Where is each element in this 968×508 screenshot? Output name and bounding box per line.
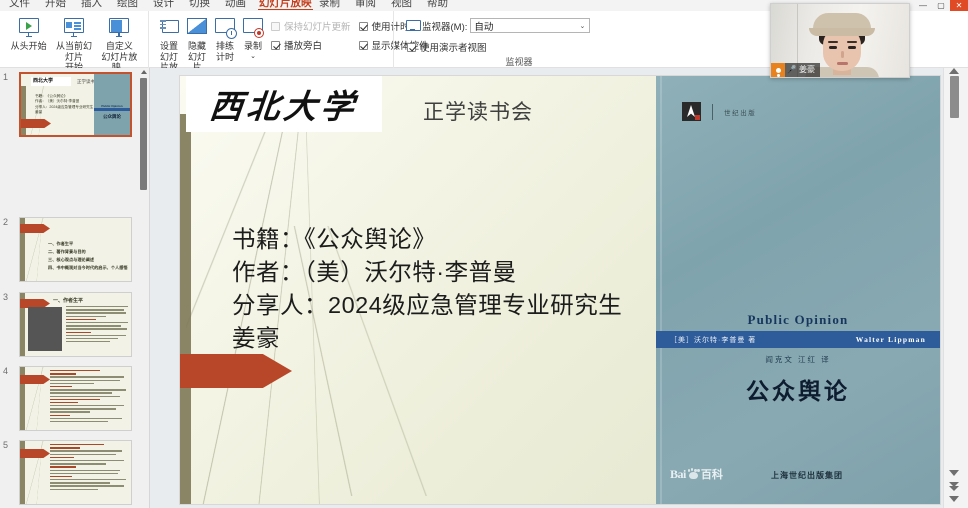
chevron-down-icon: ⌄: [580, 22, 586, 30]
powerpoint-window: 文件 开始 插入 绘图 设计 切换 动画 幻灯片放映 录制 审阅 视图 帮助 —…: [0, 0, 968, 508]
bear-paw-icon: [687, 468, 700, 480]
participant-name-badge: 🎤 姜豪: [771, 63, 820, 77]
thumbnail-item-5[interactable]: 5: [0, 438, 138, 508]
thumb-line: 分享人：2024级应急管理专业研究生: [35, 105, 93, 110]
record-button[interactable]: 录制 ⌄: [239, 14, 267, 60]
tab-file[interactable]: 文件: [6, 0, 33, 10]
book-english-title: Public Opinion: [656, 312, 940, 328]
setup-slideshow-icon: [156, 16, 182, 40]
book-author-chinese: ［美］沃尔特·李普曼 著: [670, 335, 756, 345]
participant-name: 姜豪: [798, 63, 820, 77]
setup-checkbox-column-1: 保持幻灯片更新 播放旁白: [267, 14, 355, 52]
scrollbar-thumb[interactable]: [140, 78, 147, 190]
tab-review[interactable]: 审阅: [352, 0, 379, 10]
checkbox-box: [271, 22, 280, 31]
next-slide-icon[interactable]: [949, 482, 959, 490]
close-button[interactable]: ✕: [950, 0, 968, 11]
window-controls: — ▢ ✕: [914, 0, 968, 11]
checkbox-box: [359, 41, 368, 50]
rehearse-timings-icon: [212, 16, 238, 40]
minimize-button[interactable]: —: [914, 0, 932, 11]
thumb-line: 姜豪: [35, 110, 93, 115]
baidu-baike-watermark: Bai 百科: [670, 466, 723, 482]
tab-insert[interactable]: 插入: [78, 0, 105, 10]
university-logo: 西北大学: [186, 76, 382, 132]
checkbox-box: [359, 22, 368, 31]
thumbnail-scrollbar[interactable]: [140, 70, 147, 506]
use-presenter-view-checkbox[interactable]: 使用演示者视图: [407, 40, 487, 54]
slide-editing-area[interactable]: 西北大学 正学读书会 书籍：《公众舆论》 作者：（美）沃尔特·李普曼 分享人：2…: [150, 68, 943, 508]
from-current-slide-icon: [61, 16, 87, 40]
publisher-logo-icon: [682, 102, 701, 121]
scroll-up-icon[interactable]: [949, 68, 959, 74]
ribbon-group-setup: 设置 幻灯片放映 隐藏 幻灯片 排练计时 录制 ⌄: [148, 11, 393, 68]
book-translators: 阎克文 江红 译: [656, 354, 940, 365]
thumbnail-number: 1: [3, 72, 8, 82]
from-beginning-icon: [16, 16, 42, 40]
monitor-selector-row: 监视器(M): 自动 ⌄: [406, 18, 590, 33]
thumb-heading: 一、作者生平: [53, 297, 83, 304]
divider: [712, 104, 713, 120]
thumbnail-number: 3: [3, 292, 8, 302]
scroll-bottom-icon[interactable]: [949, 496, 959, 502]
tab-view[interactable]: 视图: [388, 0, 415, 10]
thumbnail-item-4[interactable]: 4: [0, 364, 138, 436]
rehearse-timings-button[interactable]: 排练计时: [211, 14, 239, 62]
chevron-down-icon[interactable]: ⌄: [250, 52, 256, 60]
book-chinese-title: 公众舆论: [656, 372, 940, 406]
thumbnail-item-2[interactable]: 2 一、作者生平 二、著作背景与目的 三、核心观点与理论阐述 四、书中概观对当今…: [0, 215, 138, 287]
monitor-dropdown[interactable]: 自动 ⌄: [470, 18, 590, 33]
scrollbar-thumb[interactable]: [950, 76, 959, 118]
tab-draw[interactable]: 绘图: [114, 0, 141, 10]
tab-record[interactable]: 录制: [316, 0, 343, 10]
scroll-down-icon[interactable]: [949, 470, 959, 476]
book-cover-image[interactable]: 世纪出版 Public Opinion ［美］沃尔特·李普曼 著 Walter …: [656, 76, 940, 504]
maximize-button[interactable]: ▢: [932, 0, 950, 11]
tab-help[interactable]: 帮助: [424, 0, 451, 10]
thumbnail-number: 5: [3, 440, 8, 450]
slide-line-presenter: 分享人：2024级应急管理专业研究生: [232, 289, 692, 322]
person-icon: [771, 63, 785, 77]
book-author-band: ［美］沃尔特·李普曼 著 Walter Lippman: [656, 331, 940, 348]
thumb-logo-text: 西北大学: [31, 77, 71, 86]
custom-slideshow-button[interactable]: 自定义 幻灯片放映⌄: [97, 14, 142, 75]
slide-line-presenter-name: 姜豪: [232, 322, 692, 355]
thumb-line: 三、核心观点与理论阐述: [48, 256, 128, 264]
watermark-prefix: Bai: [670, 467, 686, 482]
monitor-dropdown-value: 自动: [474, 19, 493, 33]
thumbnail-image[interactable]: 一、作者生平: [19, 292, 132, 357]
watermark-suffix: 百科: [701, 466, 723, 482]
tab-animations[interactable]: 动画: [222, 0, 249, 10]
thumbnail-image[interactable]: [19, 366, 132, 431]
university-logo-text: 西北大学: [207, 80, 360, 128]
current-slide[interactable]: 西北大学 正学读书会 书籍：《公众舆论》 作者：（美）沃尔特·李普曼 分享人：2…: [180, 76, 940, 504]
ribbon-group-monitors: 监视器(M): 自动 ⌄ 使用演示者视图 监视器: [393, 11, 643, 68]
from-beginning-button[interactable]: 从头开始: [6, 14, 51, 52]
ribbon-group-monitors-label: 监视器: [394, 56, 644, 68]
checkbox-box: [407, 43, 416, 52]
reading-club-title: 正学读书会: [423, 96, 533, 126]
thumbnail-image[interactable]: 一、作者生平 二、著作背景与目的 三、核心观点与理论阐述 四、书中概观对当今时代…: [19, 217, 132, 282]
book-press-name: 上海世纪出版集团: [771, 470, 843, 481]
slide-thumbnail-pane[interactable]: 1 西北大学 正学读书会 Public Opinion 公众舆论 书籍：《公众舆…: [0, 68, 150, 508]
thumbnail-image[interactable]: 西北大学 正学读书会 Public Opinion 公众舆论 书籍：《公众舆论》…: [19, 72, 132, 137]
tab-transitions[interactable]: 切换: [186, 0, 213, 10]
monitor-label: 监视器(M):: [422, 19, 467, 33]
thumbnail-number: 2: [3, 217, 8, 227]
scroll-up-icon[interactable]: [141, 70, 147, 74]
play-narrations-checkbox[interactable]: 播放旁白: [271, 38, 351, 52]
publisher-mark-name: 世纪出版: [724, 107, 756, 117]
thumb-line: 一、作者生平: [48, 240, 128, 248]
hide-slide-button[interactable]: 隐藏 幻灯片: [183, 14, 211, 73]
thumbnail-item-1[interactable]: 1 西北大学 正学读书会 Public Opinion 公众舆论 书籍：《公众舆…: [0, 70, 138, 142]
slide-body-text[interactable]: 书籍：《公众舆论》 作者：（美）沃尔特·李普曼 分享人：2024级应急管理专业研…: [232, 223, 692, 355]
thumbnail-item-3[interactable]: 3 一、作者生平: [0, 290, 138, 362]
tab-slideshow[interactable]: 幻灯片放映: [256, 0, 315, 10]
thumb-line: 四、书中概观对当今时代的启示、个人感悟: [48, 264, 128, 272]
slide-line-author: 作者：（美）沃尔特·李普曼: [232, 256, 692, 289]
ribbon-group-start-show: 从头开始 从当前幻灯片 开始 自定义 幻灯片放映⌄ 开始放映幻灯片: [0, 11, 148, 68]
microphone-muted-icon: 🎤: [785, 63, 798, 77]
book-spine: [660, 76, 662, 504]
tab-design[interactable]: 设计: [150, 0, 177, 10]
tab-home[interactable]: 开始: [42, 0, 69, 10]
custom-slideshow-icon: [106, 16, 132, 40]
thumb-line: 二、著作背景与目的: [48, 248, 128, 256]
webcam-video-overlay[interactable]: 🎤 姜豪: [770, 3, 910, 78]
from-current-slide-button[interactable]: 从当前幻灯片 开始: [51, 14, 96, 73]
publisher-mark: 世纪出版: [682, 102, 756, 121]
keep-slides-updated-checkbox[interactable]: 保持幻灯片更新: [271, 19, 351, 33]
vertical-scrollbar[interactable]: [943, 68, 968, 508]
thumbnail-number: 4: [3, 366, 8, 376]
checkbox-box: [271, 41, 280, 50]
record-icon: [240, 16, 266, 40]
book-author-english: Walter Lippman: [856, 335, 926, 344]
slide-line-book: 书籍：《公众舆论》: [232, 223, 692, 256]
thumbnail-image[interactable]: [19, 440, 132, 505]
hide-slide-icon: [184, 16, 210, 40]
monitor-icon: [406, 20, 419, 31]
